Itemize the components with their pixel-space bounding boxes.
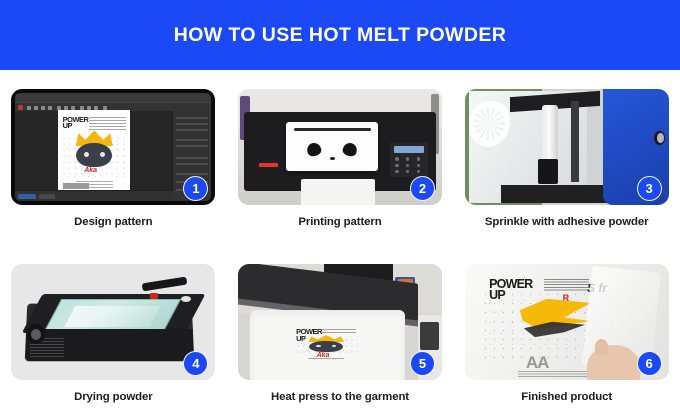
machine-base <box>501 185 615 202</box>
step-image-heat-press: POWER UP Aka 5 <box>238 264 442 380</box>
artwork-graphic: POWER UP Aka <box>58 110 130 192</box>
step-card-2: 2 Printing pattern <box>227 70 454 245</box>
status-swatch-primary <box>18 194 36 199</box>
artwork-eye-left <box>84 152 89 157</box>
status-swatch-secondary <box>39 194 55 199</box>
artboard: POWER UP Aka <box>58 110 130 192</box>
design-eye-left <box>316 345 321 347</box>
printer-led-display <box>256 161 281 169</box>
artwork-headline: POWER UP <box>63 117 89 131</box>
app-status-bar <box>15 190 173 201</box>
step-badge-6: 6 <box>637 351 662 376</box>
step-caption-1: Design pattern <box>74 216 152 228</box>
design-eye-right <box>332 345 337 347</box>
step-badge-3: 3 <box>637 176 662 201</box>
step-card-4: 4 Drying powder <box>0 245 227 420</box>
printer-cover <box>286 122 378 171</box>
step-caption-3: Sprinkle with adhesive powder <box>485 216 649 228</box>
step-caption-6: Finished product <box>521 391 612 403</box>
artwork-eye-right <box>100 152 105 157</box>
machine-knob[interactable] <box>654 131 664 145</box>
app-logo-icon <box>18 105 23 110</box>
machine-rail <box>571 101 579 182</box>
printer-key[interactable] <box>406 170 409 173</box>
drying-machine-handle[interactable] <box>142 277 188 292</box>
printer-key[interactable] <box>417 157 420 160</box>
header-banner: HOW TO USE HOT MELT POWDER <box>0 0 680 70</box>
print-baseline-text <box>518 371 587 378</box>
artwork-subtext <box>89 117 126 130</box>
printer-lcd-screen <box>394 146 423 154</box>
printer-slot <box>294 128 371 131</box>
panda-eye-right-icon <box>342 142 358 158</box>
printer-key[interactable] <box>395 157 398 160</box>
printed-film-output <box>301 179 374 205</box>
canvas-area: POWER UP Aka <box>15 111 173 191</box>
panda-nose-icon <box>330 157 336 160</box>
step-card-1: POWER UP Aka <box>0 70 227 245</box>
step-card-3: 3 Sprinkle with adhesive powder <box>453 70 680 245</box>
step-image-finished-product: POWER UP S fr R AA 6 <box>465 264 669 380</box>
step-caption-2: Printing pattern <box>298 216 381 228</box>
printer-key[interactable] <box>417 170 420 173</box>
design-character-face <box>309 341 343 352</box>
printer-key[interactable] <box>395 164 398 167</box>
printer-key[interactable] <box>406 157 409 160</box>
canvas-scroll-indicator <box>63 183 89 189</box>
artwork-accent-word: Aka <box>84 167 97 174</box>
step-card-5: POWER UP Aka 5 H <box>227 245 454 420</box>
step-badge-2: 2 <box>410 176 435 201</box>
tshirt-printed-design: POWER UP Aka <box>292 326 360 364</box>
print-headline: POWER UP <box>489 279 532 301</box>
printer-key[interactable] <box>417 164 420 167</box>
shaker-arm <box>538 159 558 185</box>
step-badge-4: 4 <box>183 351 208 376</box>
step-badge-5: 5 <box>410 351 435 376</box>
printer-key[interactable] <box>395 170 398 173</box>
step-image-design-pattern: POWER UP Aka <box>11 89 215 205</box>
step-caption-4: Drying powder <box>74 391 152 403</box>
drying-machine-dial[interactable] <box>27 324 45 344</box>
panda-eye-left-icon <box>306 142 322 158</box>
steps-grid: POWER UP Aka <box>0 70 680 420</box>
design-subtext <box>321 329 356 335</box>
hand-peeling <box>587 345 640 380</box>
artwork-character-face <box>76 143 112 168</box>
app-titlebar <box>15 93 211 102</box>
design-tagline <box>308 358 343 361</box>
infographic-page: HOW TO USE HOT MELT POWDER <box>0 0 680 420</box>
page-title: HOW TO USE HOT MELT POWDER <box>174 24 507 47</box>
step-image-drying-powder: 4 <box>11 264 215 380</box>
step-image-sprinkle-powder: 3 <box>465 89 669 205</box>
drying-machine-power-button[interactable] <box>150 293 158 299</box>
printer-control-panel[interactable] <box>390 142 428 177</box>
step-image-printing-pattern: 2 <box>238 89 442 205</box>
tshirt-garment: POWER UP Aka <box>250 310 405 380</box>
step-caption-5: Heat press to the garment <box>271 391 409 403</box>
print-subtext <box>544 279 589 292</box>
step-card-6: POWER UP S fr R AA 6 Finished product <box>453 245 680 420</box>
printer-key[interactable] <box>406 164 409 167</box>
design-software-window: POWER UP Aka <box>15 93 211 201</box>
